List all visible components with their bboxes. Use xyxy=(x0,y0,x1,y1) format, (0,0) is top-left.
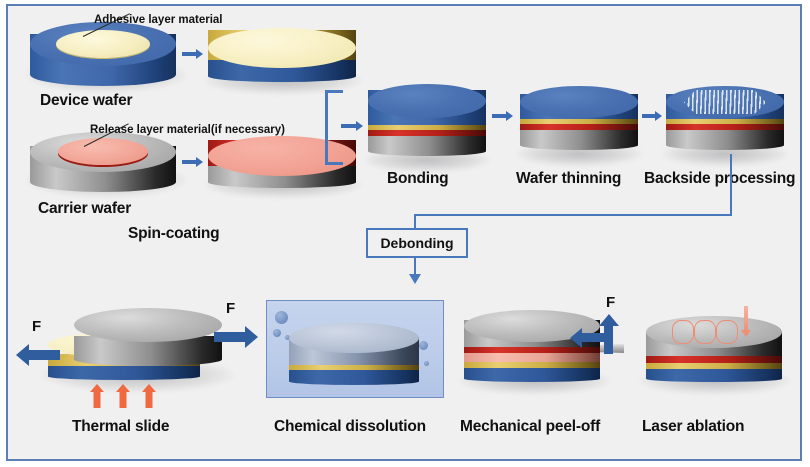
debonding-box[interactable]: Debonding xyxy=(366,228,468,258)
release-pool xyxy=(58,138,148,165)
backside-die-grid xyxy=(684,90,766,114)
device-wafer-coated xyxy=(208,28,356,82)
dissolving-stack xyxy=(289,323,419,385)
laser-scan-path-1 xyxy=(672,320,694,344)
force-arrow-right xyxy=(214,326,258,348)
bracket-vertical xyxy=(325,90,328,164)
laser-scan-path-3 xyxy=(716,320,738,344)
adhesive-annotation: Adhesive layer material xyxy=(94,14,223,26)
peel-force-horizontal xyxy=(570,330,608,344)
heat-arrow-3 xyxy=(142,384,156,408)
arrow-carrier-to-coated xyxy=(182,156,204,168)
laser-stack xyxy=(646,316,782,382)
debonding-label: Debonding xyxy=(380,235,453,251)
force-arrow-left xyxy=(16,344,60,366)
wafer-thinning-label: Wafer thinning xyxy=(516,170,621,188)
spin-coating-label: Spin-coating xyxy=(128,225,219,243)
figure-frame: Adhesive layer material Device wafer Rel… xyxy=(6,4,802,461)
debonding-feed-riser xyxy=(730,154,732,216)
debonding-feed-horizontal xyxy=(414,214,732,216)
figure-canvas: Adhesive layer material Device wafer Rel… xyxy=(0,0,810,467)
laser-beam xyxy=(744,306,748,332)
bubble-1 xyxy=(275,311,288,324)
bonded-stack xyxy=(368,84,486,156)
arrow-to-bonding xyxy=(341,120,367,132)
thermal-carrier-wafer xyxy=(74,308,222,366)
chemical-bath xyxy=(266,300,444,398)
bracket-top xyxy=(325,90,343,93)
adhesive-pool xyxy=(56,30,150,58)
bubble-4 xyxy=(419,341,428,350)
backside-processing-label: Backside processing xyxy=(644,170,795,188)
force-label-left: F xyxy=(32,318,41,335)
force-label-right: F xyxy=(226,300,235,317)
force-label-peel: F xyxy=(606,294,615,311)
bubble-6 xyxy=(424,361,429,366)
bonding-label: Bonding xyxy=(387,170,448,188)
device-wafer-uncoated xyxy=(30,22,176,86)
carrier-wafer-uncoated xyxy=(30,132,176,192)
bubble-2 xyxy=(273,329,281,337)
arrow-thinning-to-backside xyxy=(642,110,664,122)
release-annotation: Release layer material(if necessary) xyxy=(90,124,285,136)
bracket-bottom xyxy=(325,162,343,165)
device-wafer-label: Device wafer xyxy=(40,92,132,110)
carrier-wafer-label: Carrier wafer xyxy=(38,200,131,218)
thermal-slide-label: Thermal slide xyxy=(72,418,169,436)
heat-arrow-1 xyxy=(90,384,104,408)
arrow-device-to-coated xyxy=(182,48,204,60)
heat-arrow-2 xyxy=(116,384,130,408)
debonding-arrowhead xyxy=(409,274,421,284)
laser-ablation-label: Laser ablation xyxy=(642,418,744,436)
laser-scan-path-2 xyxy=(694,320,716,344)
thinned-stack xyxy=(520,86,638,150)
arrow-bonding-to-thinning xyxy=(492,110,516,122)
chemical-dissolution-label: Chemical dissolution xyxy=(274,418,426,436)
mechanical-peel-label: Mechanical peel-off xyxy=(460,418,600,436)
laser-beam-tip xyxy=(741,330,751,337)
backside-stack xyxy=(666,86,784,150)
